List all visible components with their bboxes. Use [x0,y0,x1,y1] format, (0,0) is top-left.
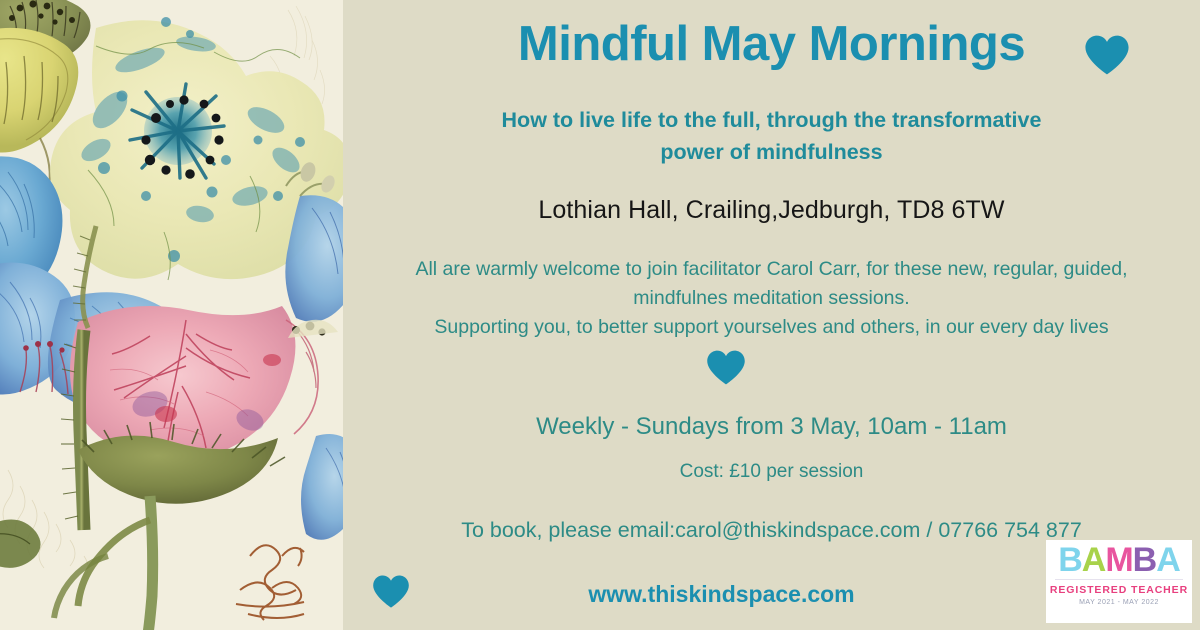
bamba-subtitle: REGISTERED TEACHER [1050,584,1188,596]
subtitle-line-2: power of mindfulness [383,136,1160,168]
subtitle-line-1: How to live life to the full, through th… [383,104,1160,136]
content-panel: Mindful May Mornings How to live life to… [343,0,1200,630]
subtitle: How to live life to the full, through th… [383,104,1160,168]
description-line-2: mindfulnes meditation sessions. [357,284,1186,313]
schedule-text: Weekly - Sundays from 3 May, 10am - 11am [373,413,1170,441]
watercolour-flowers-image [0,0,343,630]
description-line-1: All are warmly welcome to join facilitat… [357,255,1186,284]
bamba-letter-1: B [1058,542,1082,578]
bamba-letter-4: B [1133,542,1157,578]
flyer-poster: Mindful May Mornings How to live life to… [0,0,1200,630]
bamba-divider [1055,579,1183,580]
website-url[interactable]: www.thiskindspace.com [363,581,1080,608]
description-text: All are warmly welcome to join facilitat… [357,255,1186,342]
heart-icon [706,349,746,386]
bamba-letter-5: A [1156,542,1180,578]
bamba-registered-teacher-logo: BAMBA REGISTERED TEACHER MAY 2021 - MAY … [1046,540,1192,623]
artwork-panel [0,0,343,630]
bamba-validity-dates: MAY 2021 - MAY 2022 [1079,599,1159,606]
heart-icon [1084,34,1130,76]
description-line-3: Supporting you, to better support yourse… [357,313,1186,342]
venue-address: Lothian Hall, Crailing,Jedburgh, TD8 6TW [373,196,1170,225]
bamba-letter-2: A [1082,542,1106,578]
bamba-wordmark: BAMBA [1058,542,1180,578]
page-title: Mindful May Mornings [343,16,1200,72]
cost-text: Cost: £10 per session [373,461,1170,483]
bamba-letter-3: M [1105,542,1132,578]
